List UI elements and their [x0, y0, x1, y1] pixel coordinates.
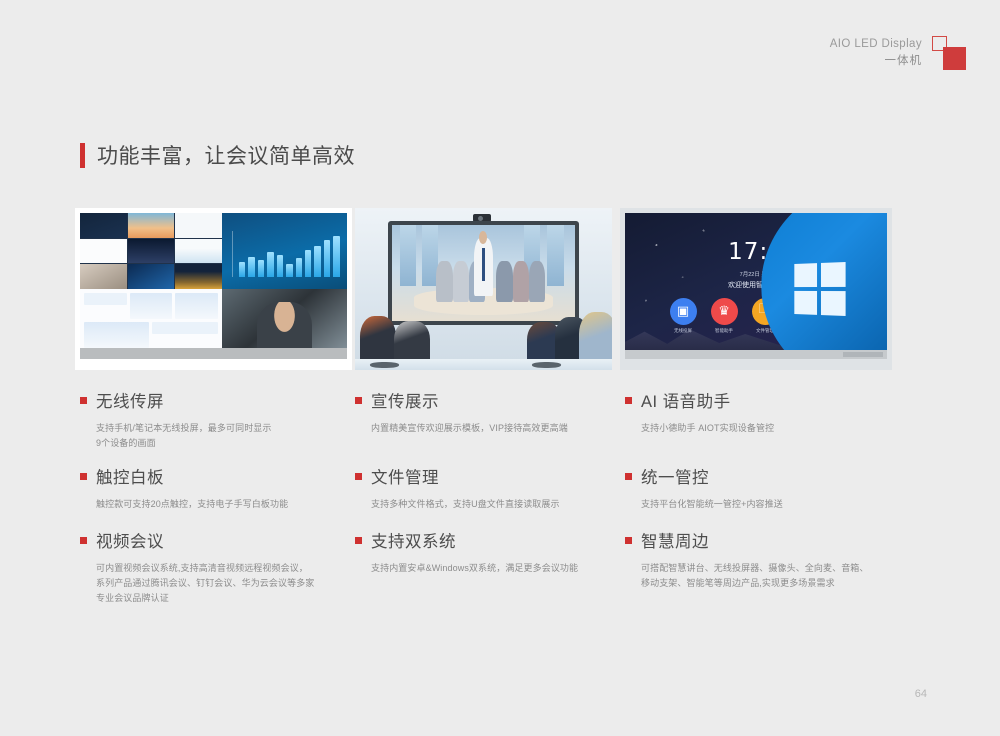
- photo2-scene: [355, 208, 612, 370]
- bullet-square-icon: [625, 537, 632, 544]
- feature-description: 可搭配智慧讲台、无线投屏器、摄像头、全向麦、音箱、 移动支架、智能笔等周边产品,…: [641, 561, 895, 591]
- feature-item: 支持双系统 支持内置安卓&Windows双系统，满足更多会议功能: [355, 528, 617, 576]
- app-label: 无线投屏: [670, 328, 697, 334]
- photo1-top-half: [80, 213, 347, 289]
- feature-title: 宣传展示: [371, 388, 439, 412]
- photo-row: 17:0 7月22日 星期 欢迎使用智能会议 ▣ 无线投屏 ♛ 智能助手 🗀 文…: [0, 208, 1000, 370]
- photo1-frame: [75, 208, 352, 370]
- feature-title: 文件管理: [371, 464, 439, 488]
- feature-heading: 触控白板: [80, 464, 342, 488]
- bullet-square-icon: [80, 397, 87, 404]
- feature-item: 智慧周边 可搭配智慧讲台、无线投屏器、摄像头、全向麦、音箱、 移动支架、智能笔等…: [625, 528, 895, 591]
- brand-header: AIO LED Display 一体机: [830, 36, 966, 70]
- grid-cell: [80, 239, 127, 264]
- feature-heading: 统一管控: [625, 464, 895, 488]
- brand-line-cn: 一体机: [830, 53, 922, 70]
- bullet-square-icon: [625, 473, 632, 480]
- feature-title: 支持双系统: [371, 528, 456, 552]
- feature-heading: AI 语音助手: [625, 388, 895, 412]
- bullet-square-icon: [355, 537, 362, 544]
- logo-square-solid: [943, 47, 966, 70]
- feature-description: 可内置视频会议系统,支持高清音视频远程视频会议， 系列产品通过腾讯会议、钉钉会议…: [96, 561, 342, 606]
- grid-cell: [80, 264, 127, 289]
- feature-item: 触控白板 触控款可支持20点触控，支持电子手写白板功能: [80, 464, 342, 512]
- microphone-icon: [532, 362, 560, 368]
- feature-title: 无线传屏: [96, 388, 164, 412]
- screen-app-icons: ▣ 无线投屏 ♛ 智能助手 🗀 文件管理: [670, 298, 779, 334]
- video-wall-dashboard-photo: [75, 208, 352, 370]
- cast-icon: ▣: [670, 298, 697, 325]
- feature-heading: 文件管理: [355, 464, 617, 488]
- grid-cell: [128, 213, 175, 238]
- two-squares-logo-icon: [932, 36, 966, 70]
- title-accent-bar: [80, 143, 85, 168]
- bullet-square-icon: [625, 397, 632, 404]
- grid-cell: [128, 239, 175, 264]
- app-label: 智能助手: [711, 328, 738, 334]
- feature-heading: 支持双系统: [355, 528, 617, 552]
- photo1-screen: [80, 213, 347, 359]
- feature-description: 支持多种文件格式，支持U盘文件直接读取展示: [371, 497, 617, 512]
- feature-title: AI 语音助手: [641, 388, 731, 412]
- grid-cell: [128, 264, 175, 289]
- page-number: 64: [915, 688, 927, 700]
- grid-cell: [175, 264, 222, 289]
- feature-heading: 视频会议: [80, 528, 342, 552]
- photo2-foreground-attendees: [355, 305, 612, 370]
- bullet-square-icon: [355, 397, 362, 404]
- section-title: 功能丰富，让会议简单高效: [80, 140, 355, 170]
- feature-description: 触控款可支持20点触控，支持电子手写白板功能: [96, 497, 342, 512]
- grid-cell: [175, 239, 222, 264]
- feature-description: 支持手机/笔记本无线投屏，最多可同时显示 9个设备的画面: [96, 421, 342, 451]
- photo1-bar-chart-panel: [222, 213, 347, 289]
- photo1-display-stand: [80, 348, 347, 359]
- bullet-square-icon: [355, 473, 362, 480]
- chart-axis: [232, 231, 233, 277]
- feature-item: 无线传屏 支持手机/笔记本无线投屏，最多可同时显示 9个设备的画面: [80, 388, 342, 451]
- brand-text: AIO LED Display 一体机: [830, 36, 922, 69]
- windows-logo-icon: [794, 262, 845, 316]
- presenter-figure: [474, 238, 492, 295]
- photo3-display-stand: [625, 350, 887, 359]
- feature-title: 触控白板: [96, 464, 164, 488]
- feature-heading: 智慧周边: [625, 528, 895, 552]
- feature-description: 内置精美宣传欢迎展示模板，VIP接待高效更高端: [371, 421, 617, 436]
- feature-description: 支持小德助手 AIOT实现设备管控: [641, 421, 895, 436]
- feature-item: 宣传展示 内置精美宣传欢迎展示模板，VIP接待高效更高端: [355, 388, 617, 436]
- microphone-icon: [370, 362, 398, 368]
- feature-heading: 无线传屏: [80, 388, 342, 412]
- bullet-square-icon: [80, 473, 87, 480]
- bullet-square-icon: [80, 537, 87, 544]
- brand-line-en: AIO LED Display: [830, 36, 922, 53]
- chart-bars: [239, 234, 339, 277]
- feature-item: 视频会议 可内置视频会议系统,支持高清音视频远程视频会议， 系列产品通过腾讯会议…: [80, 528, 342, 606]
- feature-item: 文件管理 支持多种文件格式，支持U盘文件直接读取展示: [355, 464, 617, 512]
- photo3-frame: 17:0 7月22日 星期 欢迎使用智能会议 ▣ 无线投屏 ♛ 智能助手 🗀 文…: [620, 208, 892, 370]
- feature-description: 支持内置安卓&Windows双系统，满足更多会议功能: [371, 561, 617, 576]
- video-conference-room-photo: [355, 208, 612, 370]
- grid-cell: [80, 213, 127, 238]
- feature-heading: 宣传展示: [355, 388, 617, 412]
- photo3-screen: 17:0 7月22日 星期 欢迎使用智能会议 ▣ 无线投屏 ♛ 智能助手 🗀 文…: [625, 213, 887, 359]
- photo1-multiview-grid: [80, 213, 222, 289]
- aio-display-dual-system-photo: 17:0 7月22日 星期 欢迎使用智能会议 ▣ 无线投屏 ♛ 智能助手 🗀 文…: [620, 208, 892, 370]
- feature-title: 智慧周边: [641, 528, 709, 552]
- feature-item: 统一管控 支持平台化智能统一管控+内容推送: [625, 464, 895, 512]
- feature-title: 统一管控: [641, 464, 709, 488]
- crown-icon: ♛: [711, 298, 738, 325]
- grid-cell: [175, 213, 222, 238]
- page-title: 功能丰富，让会议简单高效: [97, 140, 355, 170]
- app-icon-cast[interactable]: ▣ 无线投屏: [670, 298, 697, 334]
- feature-title: 视频会议: [96, 528, 164, 552]
- app-icon-assistant[interactable]: ♛ 智能助手: [711, 298, 738, 334]
- feature-item: AI 语音助手 支持小德助手 AIOT实现设备管控: [625, 388, 895, 436]
- feature-description: 支持平台化智能统一管控+内容推送: [641, 497, 895, 512]
